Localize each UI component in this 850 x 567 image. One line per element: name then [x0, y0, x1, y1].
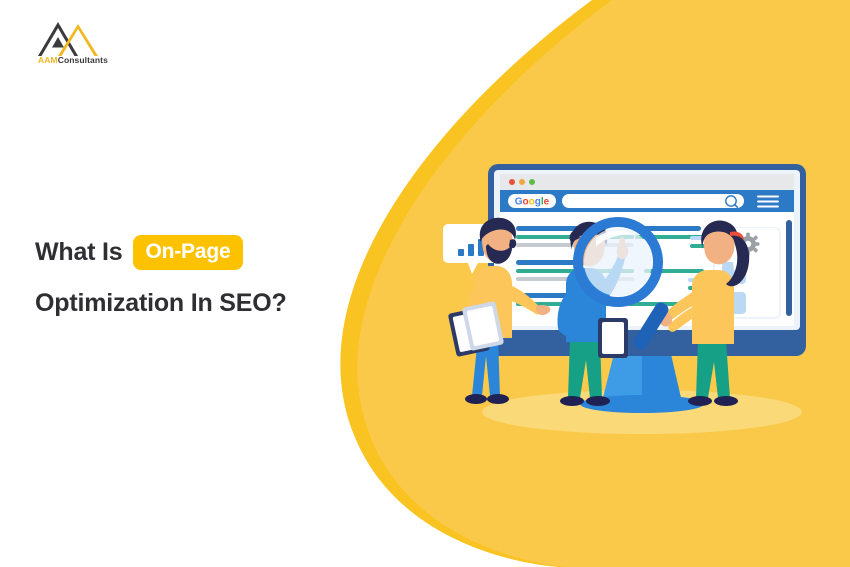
clipboard-prop-center [598, 318, 628, 358]
traffic-light-maximize[interactable] [529, 179, 535, 185]
headline-block: What Is On-Page Optimization In SEO? [35, 232, 335, 323]
headline-line-2: Optimization In SEO? [35, 283, 335, 323]
browser-titlebar [500, 174, 794, 190]
traffic-light-close[interactable] [509, 179, 515, 185]
logo-triangles-icon [33, 18, 113, 58]
headline-line2-text: Optimization In SEO? [35, 291, 287, 316]
traffic-light-minimize[interactable] [519, 179, 525, 185]
illustration: Google [430, 150, 850, 440]
logo[interactable]: AAMConsultants [33, 18, 113, 74]
search-input[interactable] [562, 194, 744, 208]
browser-scrollbar[interactable] [786, 220, 792, 316]
logo-wordmark: AAMConsultants [33, 55, 113, 65]
svg-text:Google: Google [515, 197, 550, 208]
logo-word-secondary: Consultants [58, 55, 108, 65]
poster-canvas: AAMConsultants What Is On-Page Optimizat… [0, 0, 850, 567]
google-logo[interactable]: Google [508, 194, 556, 208]
headline-badge: On-Page [133, 235, 244, 270]
headline-prefix: What Is [35, 240, 123, 265]
logo-word-primary: AAM [38, 55, 58, 65]
headline-line-1: What Is On-Page [35, 232, 335, 272]
